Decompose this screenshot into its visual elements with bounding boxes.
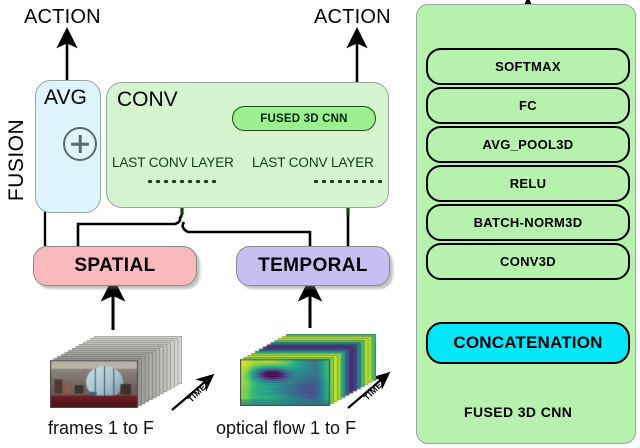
optical-flow-caption: optical flow 1 to F [216,418,356,439]
frames-volume-thumbnail [50,336,182,408]
spatial-stream-box[interactable]: SPATIAL [33,246,197,286]
layer-softmax[interactable]: SOFTMAX [426,48,630,85]
action-label-right: ACTION [314,6,391,29]
wire-spatial-to-conv-left [78,215,182,246]
fusion-label: FUSION [5,119,29,201]
layer-batch-norm3d[interactable]: BATCH-NORM3D [426,204,630,241]
concatenation-box[interactable]: CONCATENATION [426,322,630,364]
layer-conv3d[interactable]: CONV3D [426,243,630,280]
frames-caption: frames 1 to F [48,418,154,439]
last-conv-layer-left: LAST CONV LAYER [112,155,234,170]
layer-fc[interactable]: FC [426,87,630,124]
layer-relu[interactable]: RELU [426,165,630,202]
optical-flow-volume-thumbnail [240,334,376,406]
figure-root: ACTION ACTION FUSION AVG + CONV FUSED 3D… [0,0,640,448]
dotted-line-right [312,180,386,183]
last-conv-layer-right: LAST CONV LAYER [252,155,374,170]
action-label-left: ACTION [24,6,101,29]
temporal-stream-box[interactable]: TEMPORAL [236,246,390,286]
dotted-line-left [146,180,220,183]
avg-panel-title: AVG [44,86,87,110]
fused-3d-cnn-pill[interactable]: FUSED 3D CNN [232,106,376,131]
conv-panel-title: CONV [117,88,178,112]
layer-avg-pool3d[interactable]: AVG_POOL3D [426,126,630,163]
wire-temporal-to-avg [184,215,310,246]
wire-temporal-crossbar [183,222,310,246]
fused-3d-cnn-caption: FUSED 3D CNN [464,404,572,420]
sum-node [63,127,97,161]
